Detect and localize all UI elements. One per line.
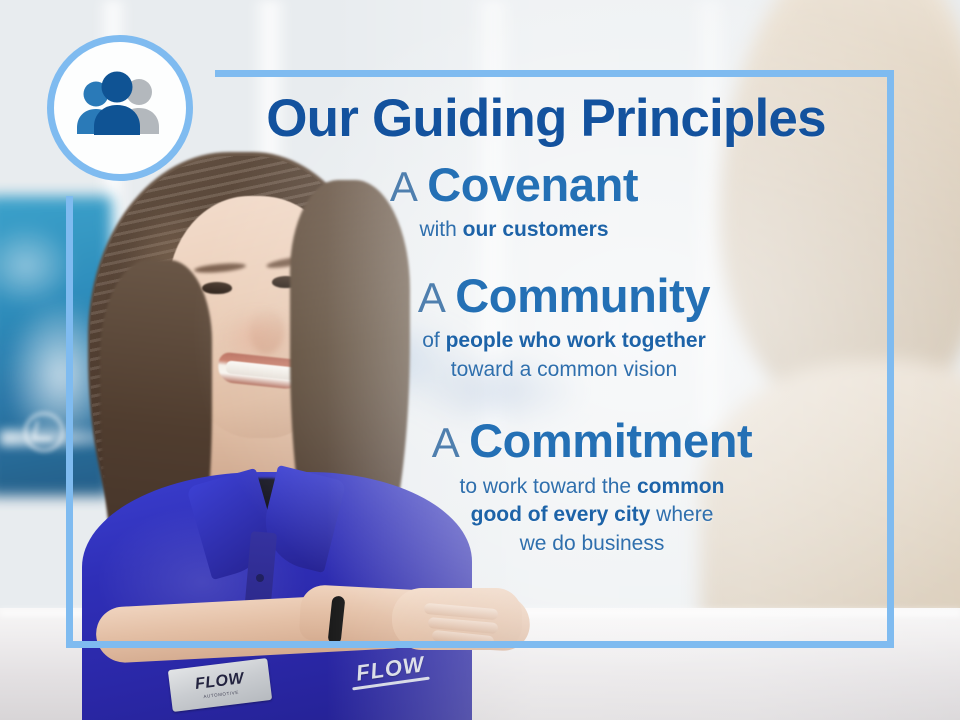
principle-commitment: A Commitment to work toward the common g… — [210, 416, 882, 558]
principle-article: A — [390, 163, 427, 210]
body-text-segment: we do business — [520, 532, 665, 555]
principle-body-line: toward a common vision — [228, 356, 900, 385]
body-text-segment-bold: good of every city — [471, 503, 651, 526]
principle-body: with our customers — [178, 216, 850, 245]
body-text-segment: of — [422, 329, 445, 352]
people-group-icon — [72, 71, 168, 145]
principle-headline: A Covenant — [178, 160, 850, 209]
polo-button — [256, 574, 264, 582]
body-text-segment: toward a common vision — [451, 358, 677, 381]
body-text-segment: to work toward the — [460, 475, 637, 498]
principle-keyword: Covenant — [427, 158, 638, 211]
principle-body-line: to work toward the common — [256, 473, 928, 502]
body-text-segment-bold: people who work together — [446, 329, 706, 352]
body-text-segment-bold: common — [637, 475, 725, 498]
principle-body: of people who work together toward a com… — [228, 327, 900, 384]
principle-community: A Community of people who work together … — [210, 271, 882, 384]
principle-headline: A Community — [228, 271, 900, 320]
principle-body-line: good of every city where — [256, 501, 928, 530]
principle-body-line: of people who work together — [228, 327, 900, 356]
page-title: Our Guiding Principles — [210, 92, 882, 146]
principle-body-line: with our customers — [178, 216, 850, 245]
poster-canvas: FLOW AUTOMOTIVE FLOW — [0, 0, 960, 720]
body-text-segment: where — [650, 503, 713, 526]
principle-keyword: Commitment — [469, 414, 752, 467]
people-group-badge — [47, 35, 193, 181]
principle-article: A — [418, 274, 455, 321]
principle-covenant: A Covenant with our customers — [210, 160, 882, 245]
principle-body: to work toward the common good of every … — [256, 473, 928, 559]
body-text-segment: with — [419, 218, 462, 241]
principle-headline: A Commitment — [256, 416, 928, 465]
principle-keyword: Community — [455, 269, 710, 322]
principle-article: A — [432, 419, 469, 466]
text-content-stack: Our Guiding Principles A Covenant with o… — [210, 92, 882, 558]
body-text-segment-bold: our customers — [463, 218, 609, 241]
principle-body-line: we do business — [256, 530, 928, 559]
